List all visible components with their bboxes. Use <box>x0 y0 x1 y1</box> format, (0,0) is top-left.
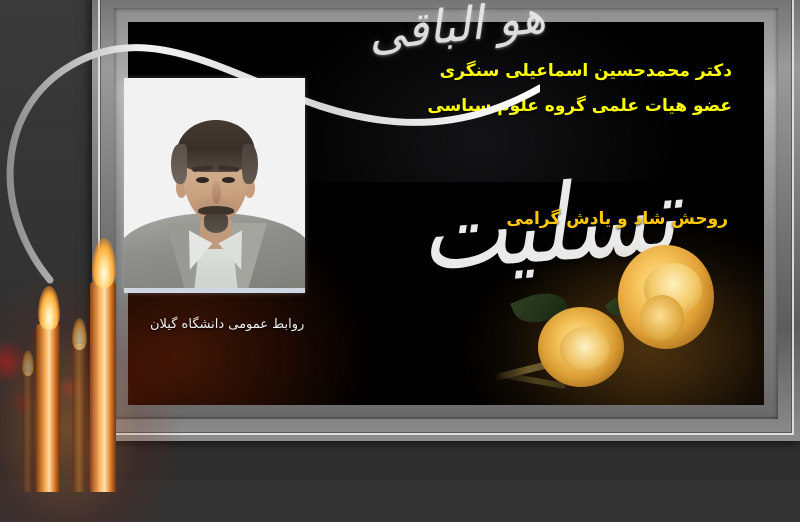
rose-bloom-core <box>640 295 684 341</box>
candle-body <box>22 372 33 492</box>
yellow-roses <box>512 241 762 405</box>
candle-body <box>90 282 116 492</box>
photo-hair-side-left <box>171 144 187 184</box>
candle-flame-icon <box>92 238 116 288</box>
candle-flame-icon <box>22 350 34 376</box>
photo-hair-side-right <box>242 144 258 184</box>
candles-group <box>0 232 152 492</box>
photo-eye-left <box>196 177 209 183</box>
candle-body <box>72 344 86 492</box>
photo-eye-right <box>222 177 235 183</box>
rose-bloom-inner <box>560 327 610 371</box>
deceased-position: عضو هیات علمی گروه علوم سیاسی <box>427 96 732 116</box>
tribute-text: روحش شاد و یادش گرامی <box>506 209 728 229</box>
photo-beard <box>204 214 228 233</box>
memorial-poster: تسلیت دکتر محمدحسین اسماعیلی سنگری عضو ه… <box>0 0 800 480</box>
candle-body <box>36 324 60 492</box>
